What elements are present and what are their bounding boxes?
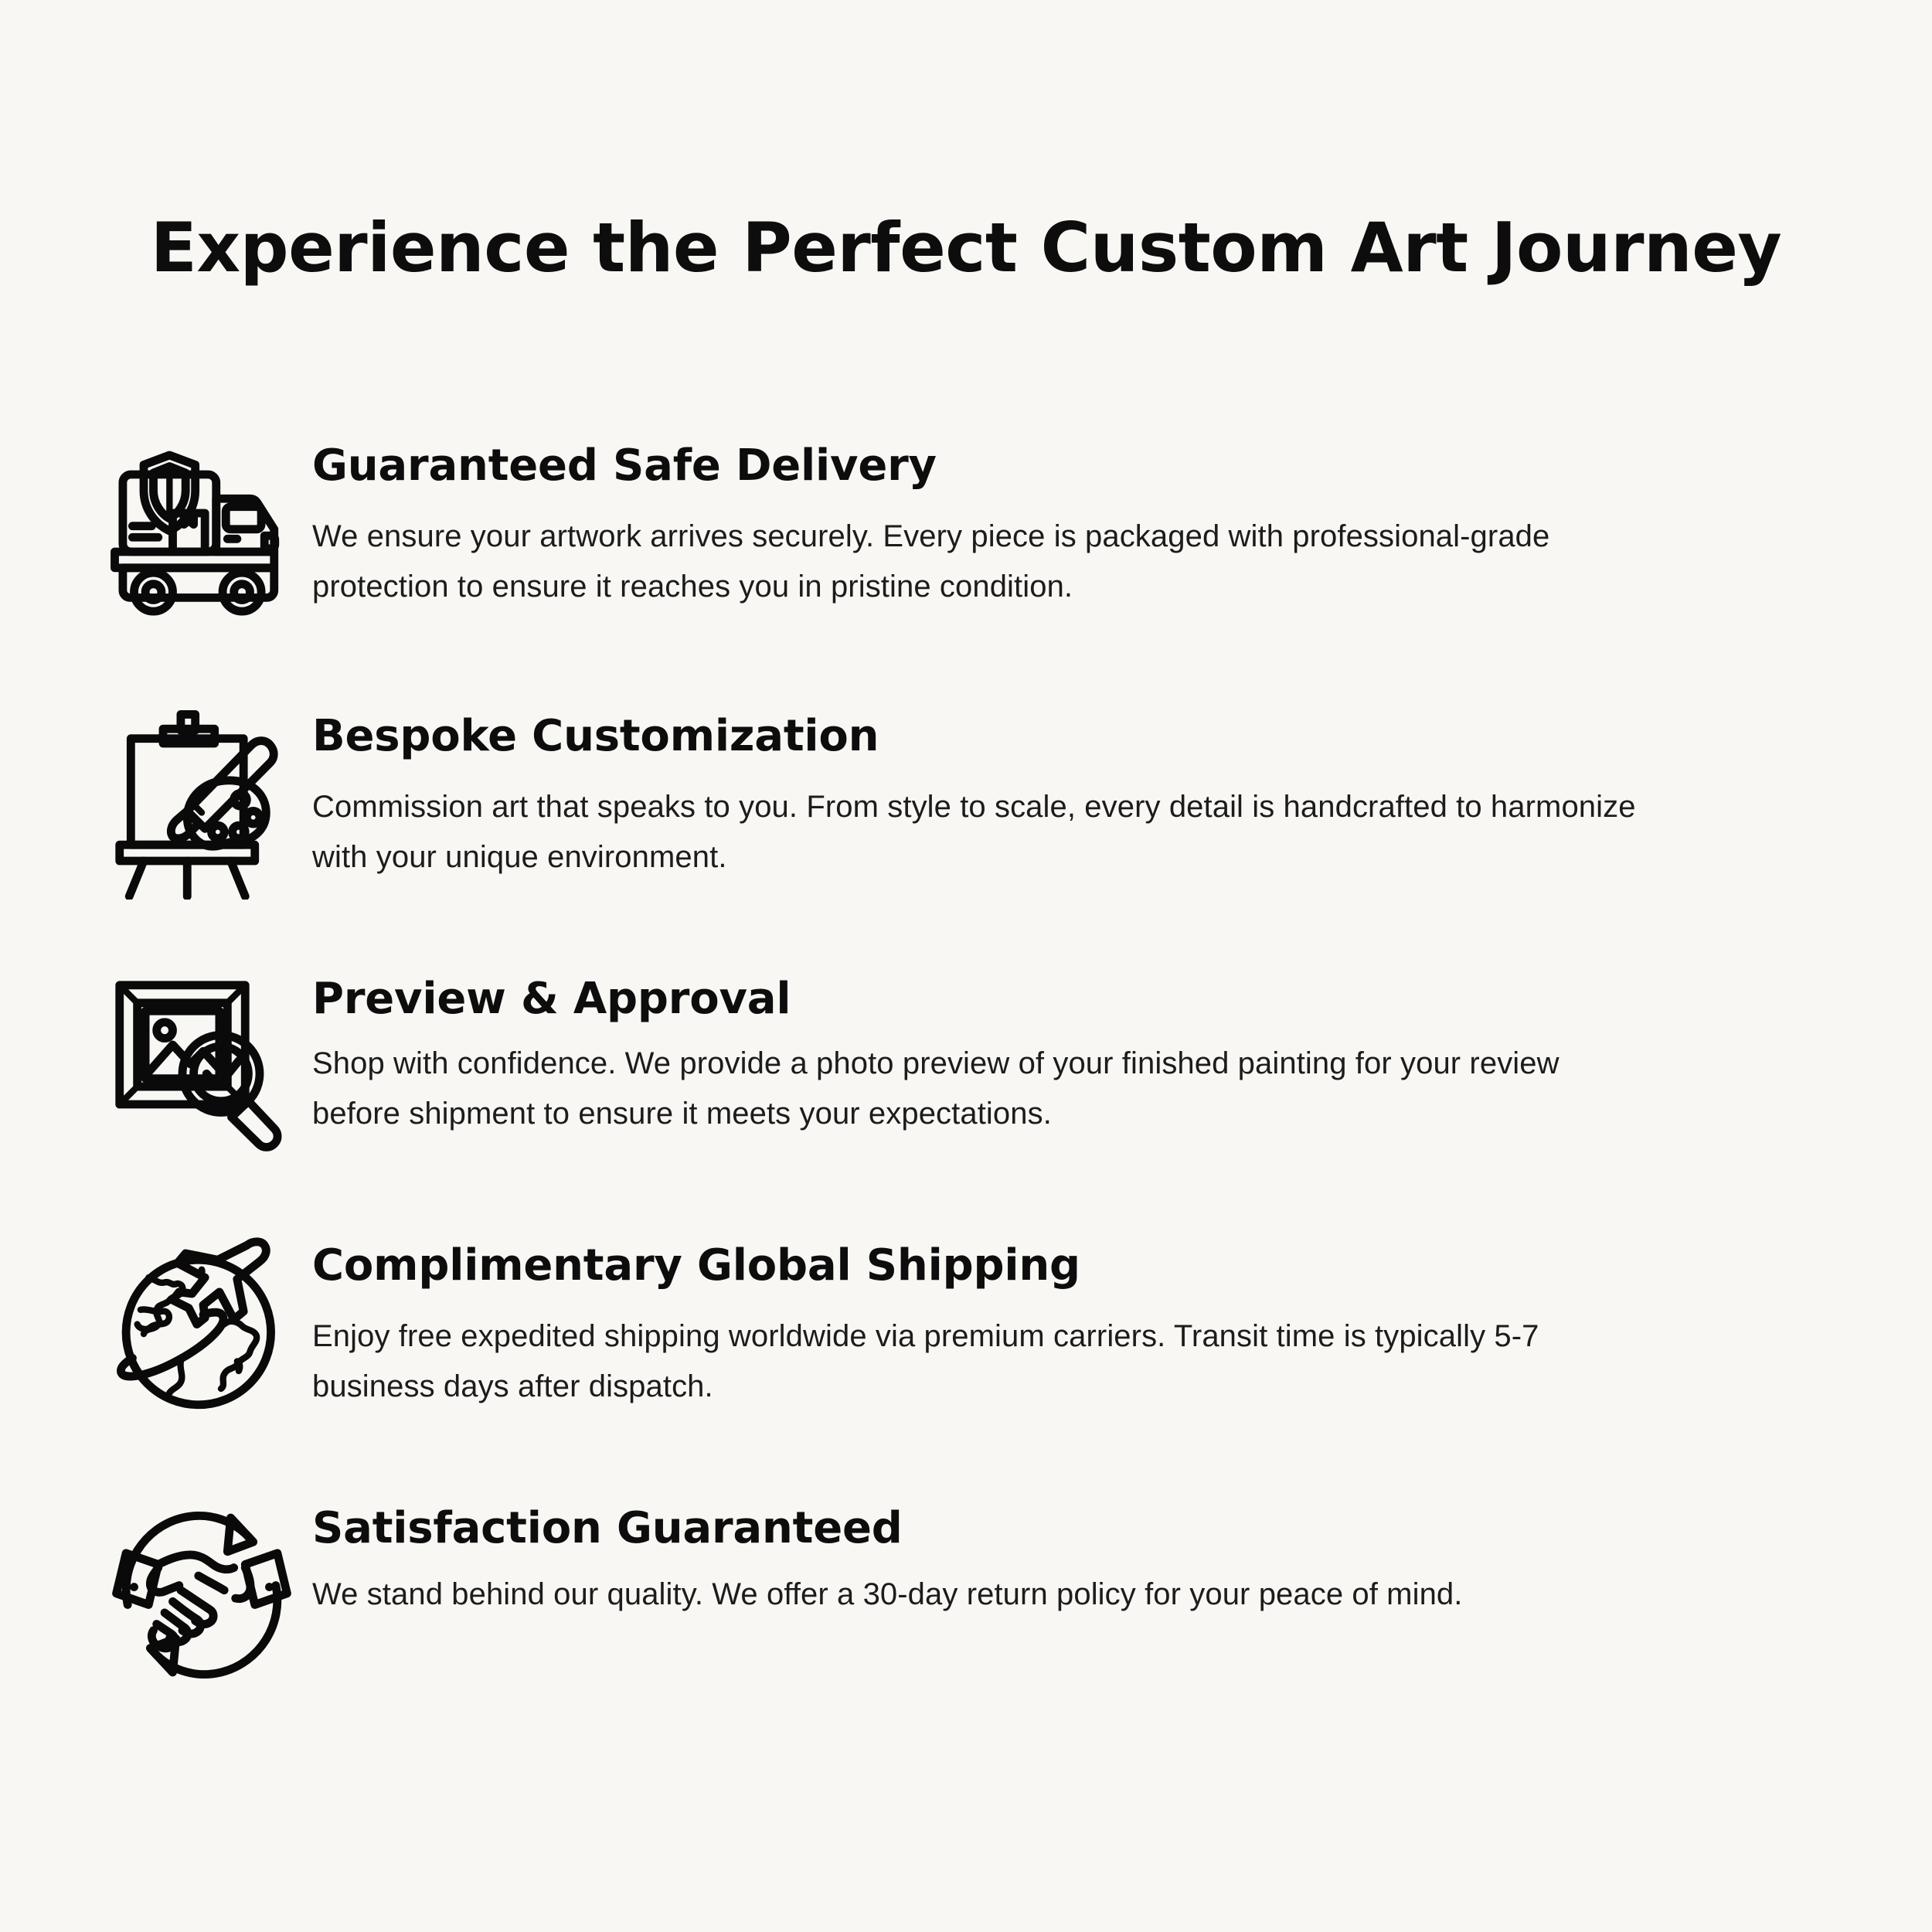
feature-text-block: Satisfaction Guaranteed We stand behind …	[312, 1495, 1765, 1620]
feature-text-block: Complimentary Global Shipping Enjoy free…	[312, 1233, 1765, 1412]
feature-title: Guaranteed Safe Delivery	[312, 440, 1649, 492]
feature-description: Shop with confidence. We provide a photo…	[312, 1039, 1649, 1139]
feature-item-safe-delivery: Guaranteed Safe Delivery We ensure your …	[0, 433, 1932, 703]
feature-benefits-panel: Experience the Perfect Custom Art Journe…	[0, 0, 1932, 1932]
feature-description: We ensure your artwork arrives securely.…	[312, 512, 1649, 612]
feature-text-block: Preview & Approval Shop with confidence.…	[312, 966, 1765, 1139]
delivery-truck-shield-icon	[91, 433, 312, 638]
globe-airplane-icon	[91, 1233, 312, 1437]
feature-item-bespoke-customization: Bespoke Customization Commission art tha…	[0, 703, 1932, 966]
feature-text-block: Bespoke Customization Commission art tha…	[312, 703, 1765, 883]
easel-palette-brush-icon	[91, 703, 312, 908]
feature-list: Guaranteed Safe Delivery We ensure your …	[0, 433, 1932, 1750]
feature-item-global-shipping: Complimentary Global Shipping Enjoy free…	[0, 1233, 1932, 1495]
feature-description: We stand behind our quality. We offer a …	[312, 1570, 1649, 1620]
feature-title: Satisfaction Guaranteed	[312, 1503, 1649, 1554]
page-title: Experience the Perfect Custom Art Journe…	[0, 210, 1932, 287]
framed-picture-magnifier-check-icon	[91, 966, 312, 1171]
feature-item-preview-approval: Preview & Approval Shop with confidence.…	[0, 966, 1932, 1233]
feature-text-block: Guaranteed Safe Delivery We ensure your …	[312, 433, 1765, 612]
feature-title: Bespoke Customization	[312, 711, 1649, 762]
feature-description: Commission art that speaks to you. From …	[312, 782, 1649, 883]
feature-title: Preview & Approval	[312, 974, 1649, 1025]
handshake-return-arrows-icon	[91, 1495, 312, 1700]
feature-description: Enjoy free expedited shipping worldwide …	[312, 1311, 1649, 1412]
feature-title: Complimentary Global Shipping	[312, 1240, 1649, 1291]
feature-item-satisfaction-guaranteed: Satisfaction Guaranteed We stand behind …	[0, 1495, 1932, 1750]
